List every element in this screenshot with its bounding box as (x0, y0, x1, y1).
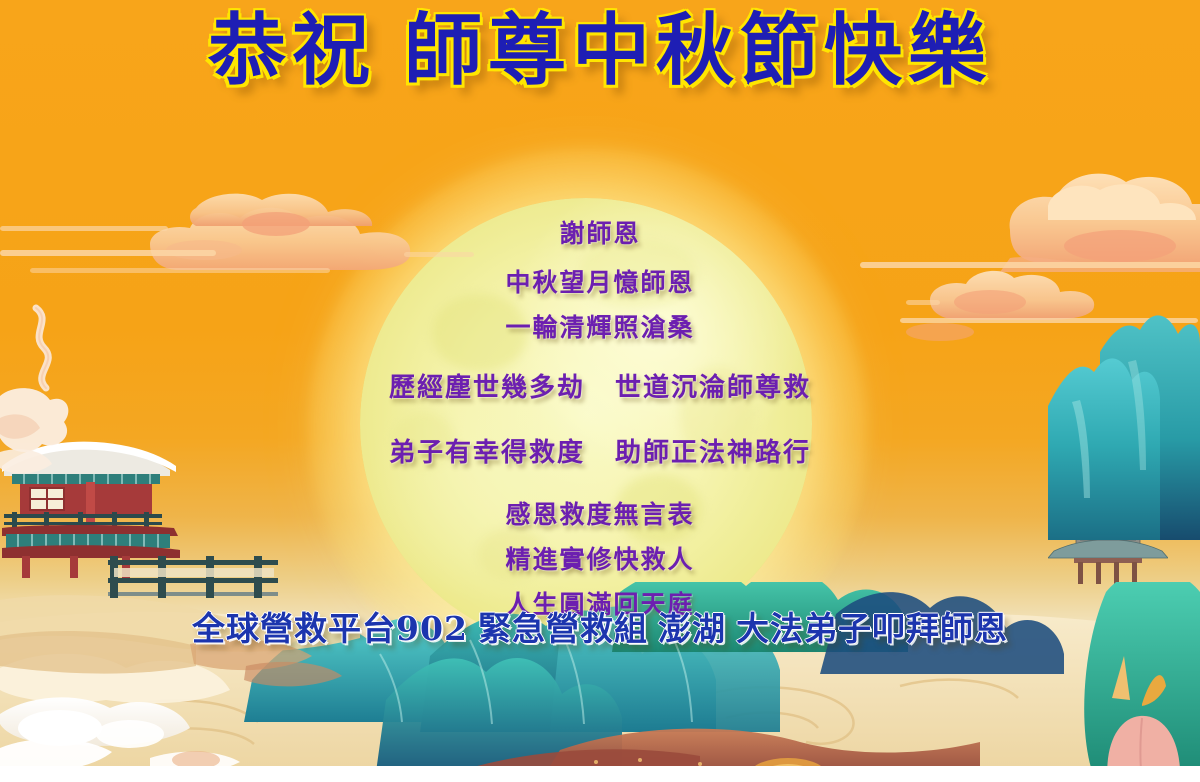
signature-greeters: 大法弟子叩拜師恩 (736, 609, 1008, 648)
greeting-card: 恭祝師尊中秋節快樂 謝師恩 中秋望月憶師恩 一輪清輝照滄桑 歷經塵世幾多劫世道沉… (0, 0, 1200, 782)
bottom-white-strip (0, 766, 1200, 782)
couplet-left: 歷經塵世幾多劫 (389, 373, 585, 403)
poem-couplet: 歷經塵世幾多劫世道沉淪師尊救 (0, 362, 1200, 415)
signature-region: 澎湖 (658, 609, 726, 648)
poem-line: 一輪清輝照滄桑 (0, 305, 1200, 350)
poem-line: 精進實修快救人 (0, 537, 1200, 582)
couplet-left: 弟子有幸得救度 (389, 438, 585, 468)
signature-team: 緊急營救組 (478, 609, 648, 648)
page-title: 恭祝師尊中秋節快樂 (0, 10, 1200, 92)
signature-line: 全球營救平台902緊急營救組澎湖大法弟子叩拜師恩 (0, 602, 1200, 650)
signature-org: 全球營救平台902 (192, 609, 468, 648)
poem-line: 中秋望月憶師恩 (0, 260, 1200, 305)
title-part-1: 恭祝 (208, 5, 376, 96)
poem-block: 謝師恩 中秋望月憶師恩 一輪清輝照滄桑 歷經塵世幾多劫世道沉淪師尊救 弟子有幸得… (0, 214, 1200, 627)
couplet-right: 助師正法神路行 (615, 438, 811, 468)
title-part-2: 師尊中秋節快樂 (404, 5, 992, 96)
poem-line: 感恩救度無言表 (0, 492, 1200, 537)
poem-heading: 謝師恩 (0, 214, 1200, 254)
poem-couplet: 弟子有幸得救度助師正法神路行 (0, 427, 1200, 480)
couplet-right: 世道沉淪師尊救 (615, 373, 811, 403)
